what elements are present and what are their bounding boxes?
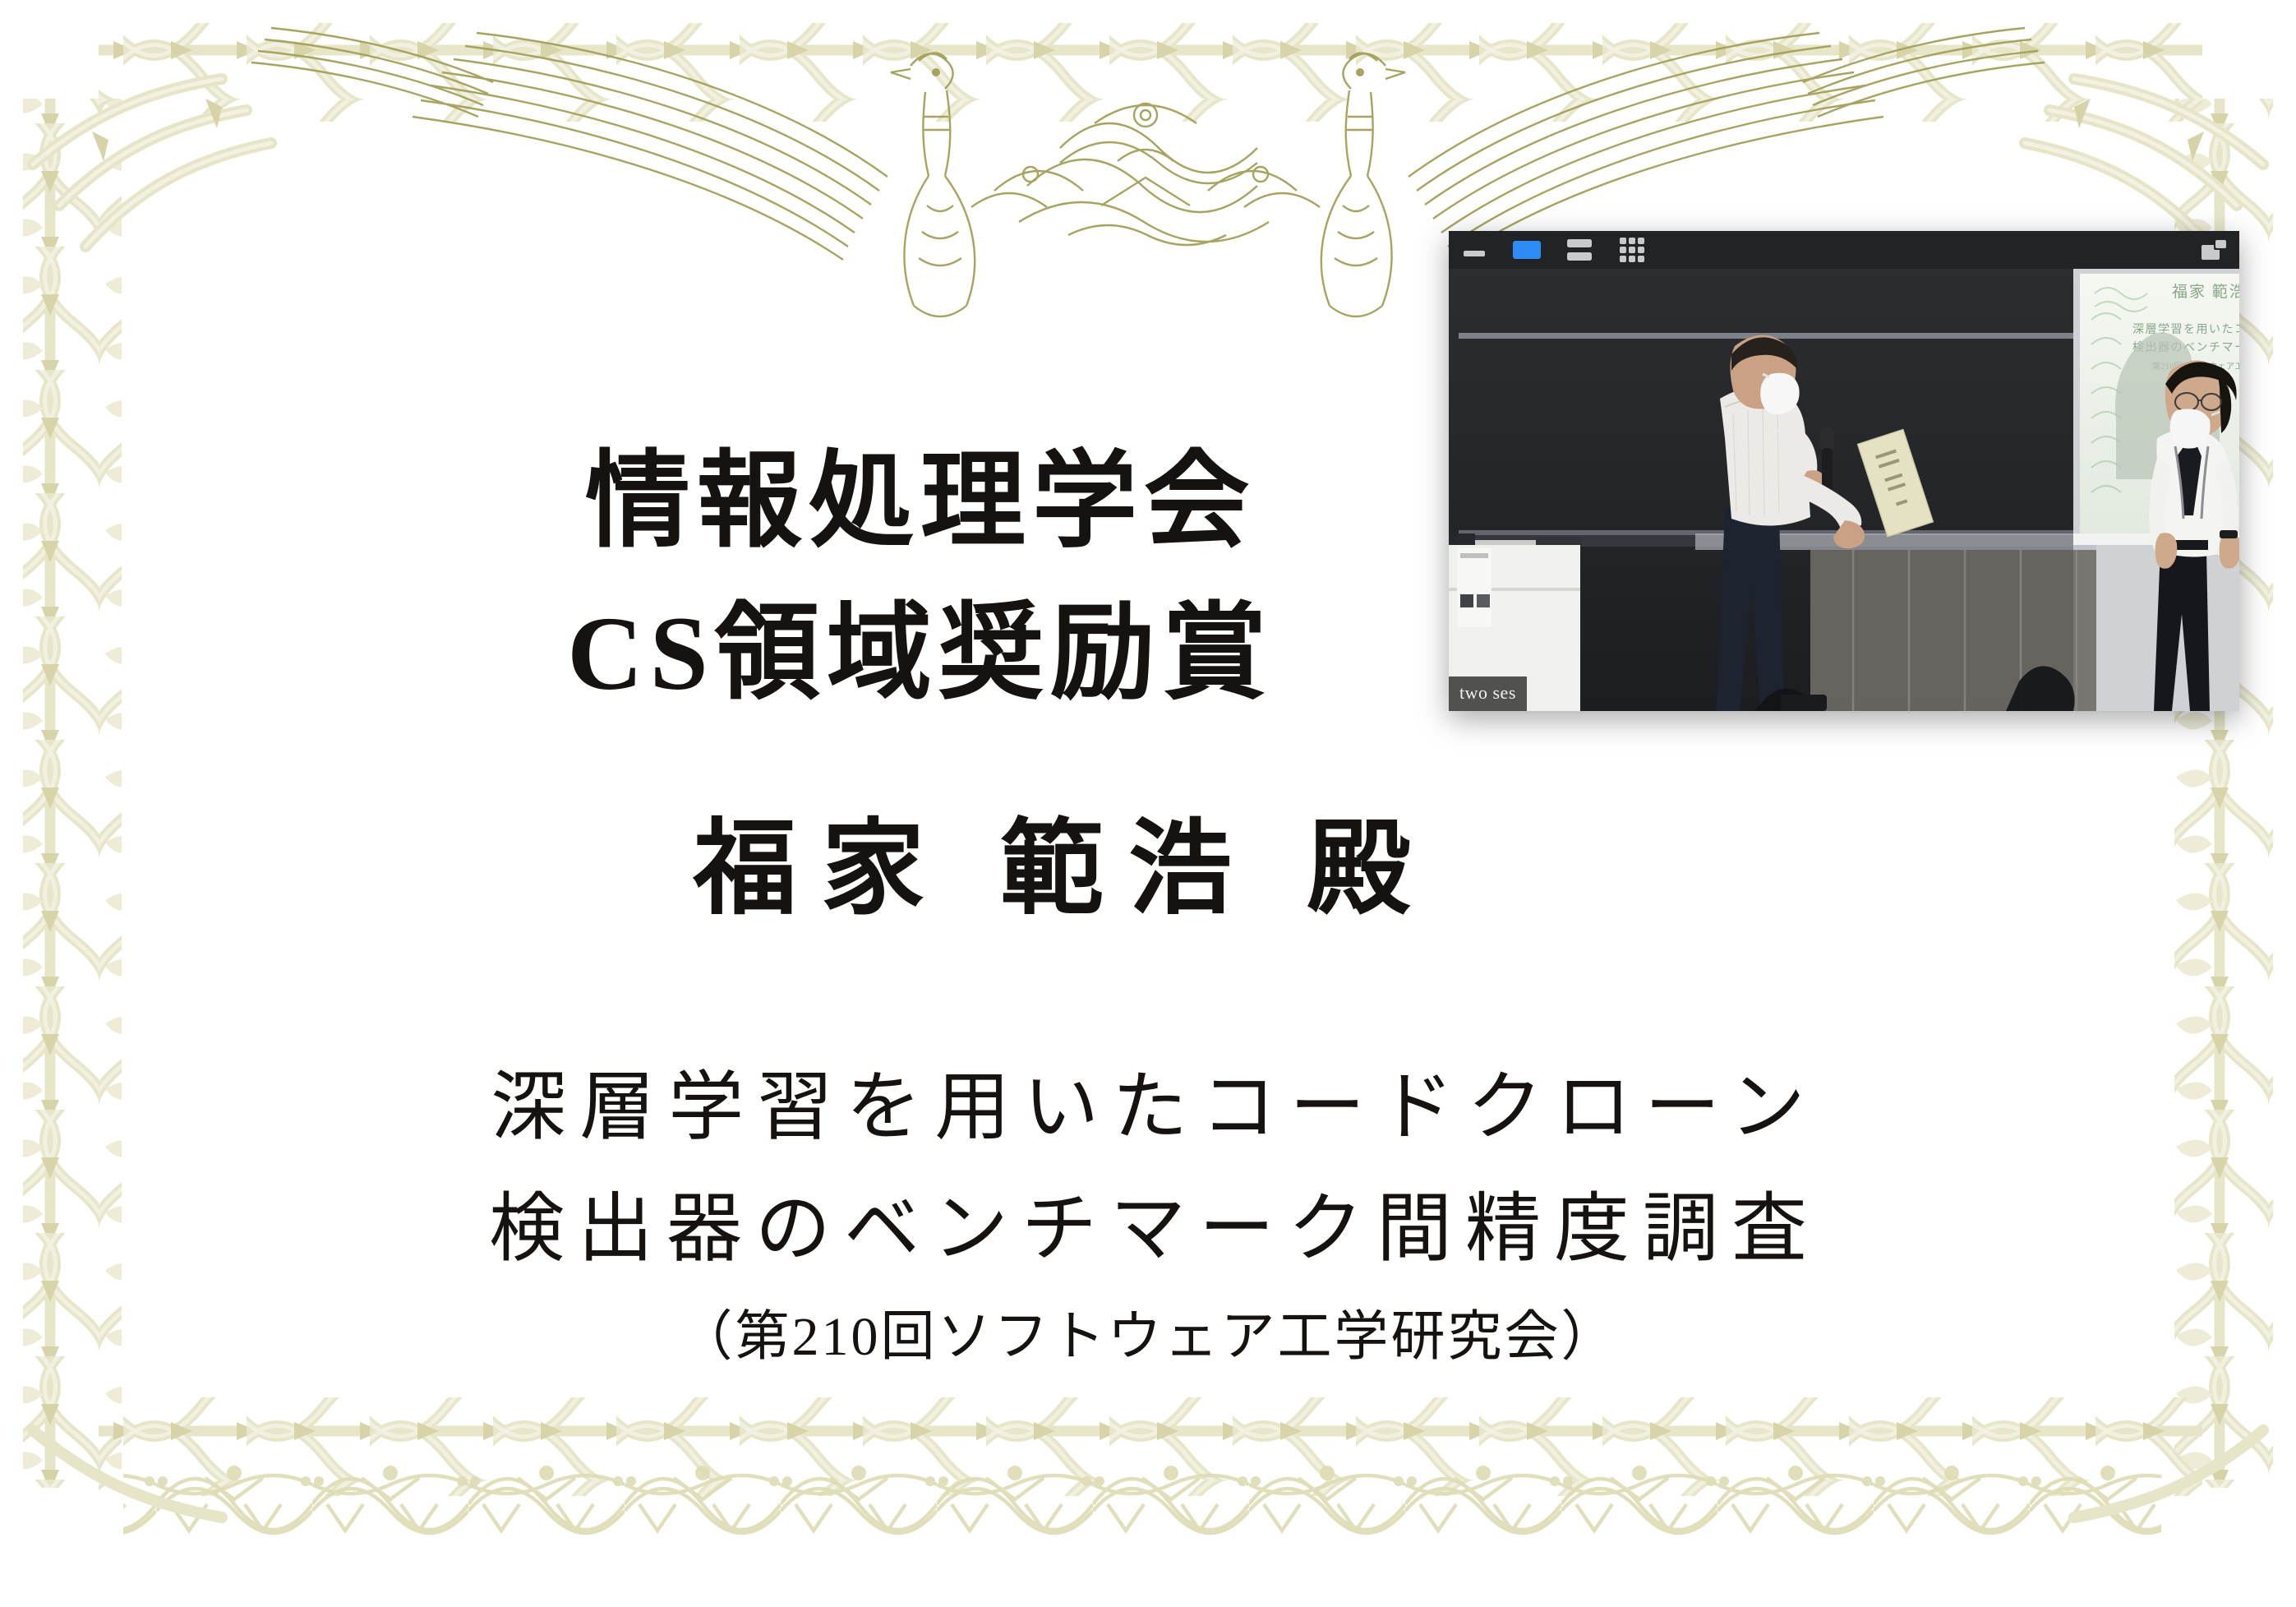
svg-text:深層学習を用いたコード: 深層学習を用いたコード [2132, 323, 2239, 336]
gallery-grid-icon[interactable] [1618, 238, 1646, 262]
minimize-icon[interactable] [1460, 238, 1488, 262]
video-conference-window[interactable]: 福家 範浩 殿 深層学習を用いたコード 検出器のベンチマーク間 第210回ソフト… [1449, 231, 2239, 711]
picture-in-picture-icon[interactable] [2200, 238, 2228, 262]
video-stage[interactable]: 福家 範浩 殿 深層学習を用いたコード 検出器のベンチマーク間 第210回ソフト… [1449, 269, 2239, 711]
svg-text:福家 範浩 殿: 福家 範浩 殿 [2172, 283, 2239, 301]
participant-name-label: two ses [1449, 677, 1527, 711]
stacked-view-icon[interactable] [1565, 238, 1593, 262]
venue-name: （第210回ソフトウェア工学研究会） [0, 1292, 2296, 1371]
paper-title-line-2: 検出器のベンチマーク間精度調査 [0, 1167, 2296, 1277]
paper-title-line-1: 深層学習を用いたコードクローン [0, 1046, 2296, 1155]
video-window-toolbar [1449, 231, 2239, 269]
recipient-name: 福家 範浩 殿 [0, 785, 2104, 935]
speaker-view-icon[interactable] [1513, 238, 1541, 262]
